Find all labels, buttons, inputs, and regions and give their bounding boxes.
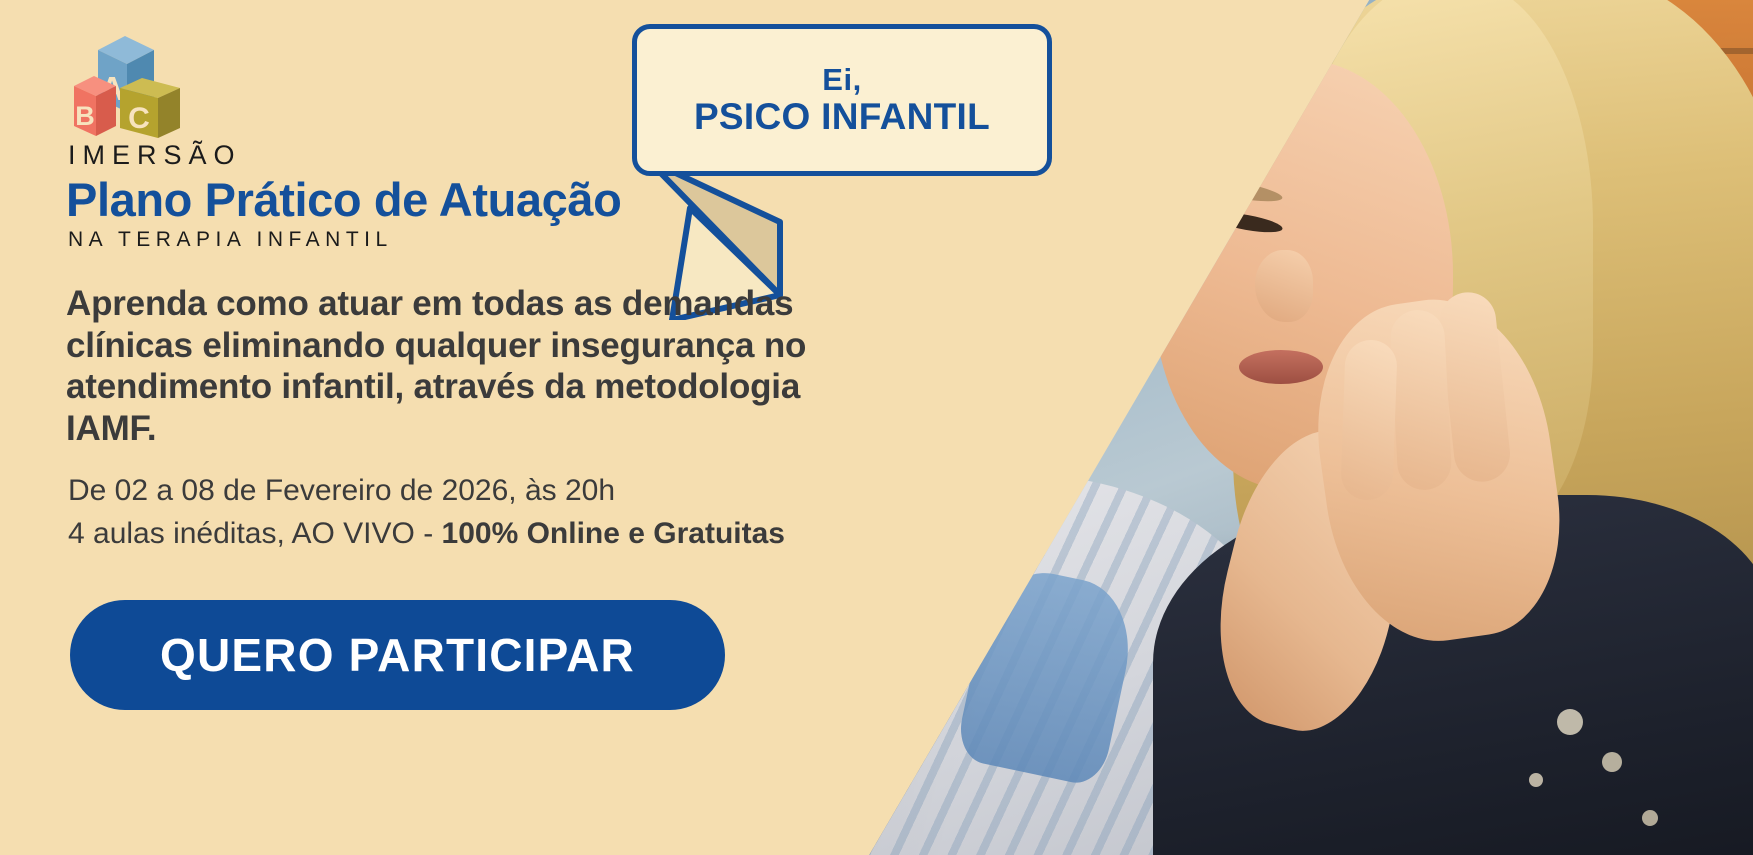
classes-line: 4 aulas inéditas, AO VIVO - 100% Online … xyxy=(68,513,928,556)
cta-button[interactable]: QUERO PARTICIPAR xyxy=(70,600,725,710)
classes-line-highlight: 100% Online e Gratuitas xyxy=(442,517,785,550)
classes-line-prefix: 4 aulas inéditas, AO VIVO - xyxy=(68,517,442,550)
event-details: De 02 a 08 de Fevereiro de 2026, às 20h … xyxy=(68,470,928,555)
lead-paragraph: Aprenda como atuar em todas as demandas … xyxy=(66,283,826,450)
boy-nose xyxy=(1063,235,1119,305)
content-column: A B C IMERSÃO Plano Prático de Atuação N… xyxy=(0,0,950,855)
svg-text:C: C xyxy=(128,102,150,135)
block-c-icon: C xyxy=(120,78,180,138)
svg-text:B: B xyxy=(75,101,95,131)
block-b-icon: B xyxy=(74,76,116,136)
page-title: Plano Prático de Atuação xyxy=(66,172,621,227)
boy-mouth xyxy=(1043,320,1103,342)
abc-blocks-logo: A B C xyxy=(68,28,186,140)
schedule-line: De 02 a 08 de Fevereiro de 2026, às 20h xyxy=(68,470,928,513)
promo-banner: Ei, PSICO INFANTIL A B xyxy=(0,0,1753,855)
kicker-text: IMERSÃO xyxy=(68,140,242,171)
sub-kicker-text: NA TERAPIA INFANTIL xyxy=(68,228,393,252)
